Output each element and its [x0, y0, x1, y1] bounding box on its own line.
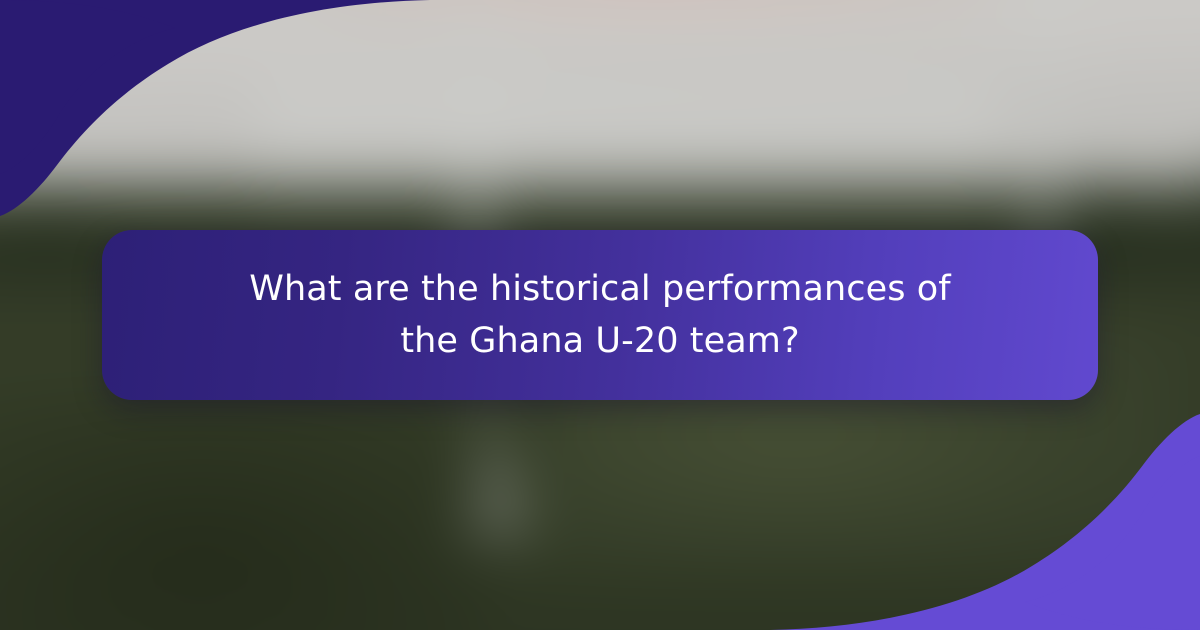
- question-text: What are the historical performances of …: [215, 263, 985, 367]
- goal-post-base: [457, 445, 541, 534]
- goal-net: [258, 88, 999, 218]
- question-card-graphic: What are the historical performances of …: [0, 0, 1200, 630]
- goal-crossbar: [429, 3, 1085, 19]
- goal-crossbar-secondary: [172, 72, 1056, 85]
- photo-grass-shadow: [0, 396, 486, 630]
- goal-post-right: [1035, 0, 1054, 258]
- question-card: What are the historical performances of …: [102, 230, 1098, 400]
